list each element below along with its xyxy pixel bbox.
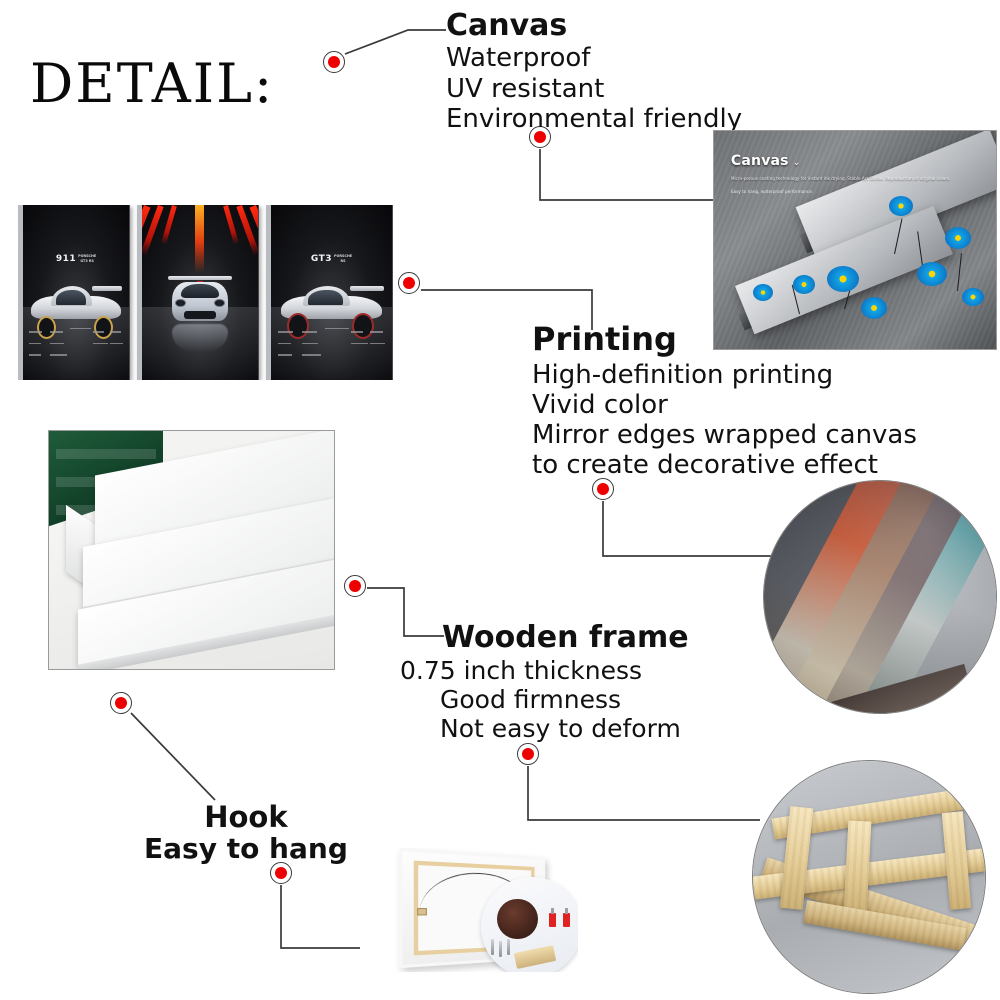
callout-wooden-frame-line-1: 0.75 inch thickness — [400, 656, 689, 685]
red-hanger — [563, 913, 570, 927]
overlay-title: Canvas — [731, 153, 789, 169]
car-headlight-left — [175, 299, 186, 307]
callout-wooden-frame-heading: Wooden frame — [442, 622, 689, 654]
overlay-text-block-1: Micro-porous coating technology for inst… — [731, 176, 951, 182]
callout-canvas: Canvas Waterproof UV resistant Environme… — [446, 10, 742, 134]
callout-printing-line-4: to create decorative effect — [532, 450, 917, 480]
leader-hook-image — [281, 885, 360, 948]
leader-canvas — [345, 30, 446, 54]
screw — [507, 939, 510, 955]
poster-right-title: GT3PORSCHERS — [271, 254, 392, 264]
canvas-image-overlay-label: Canvas⌄ Micro-porous coating technology … — [731, 153, 951, 195]
callout-printing-line-1: High-definition printing — [532, 360, 917, 390]
callout-hook: Hook Easy to hang — [144, 802, 348, 866]
marker-canvas[interactable] — [323, 51, 345, 73]
leader-print-image — [603, 501, 782, 556]
marker-hook[interactable] — [110, 692, 132, 714]
blue-flower — [962, 288, 984, 306]
car-rear-wing — [350, 286, 385, 290]
callout-hook-line-1: Easy to hang — [144, 833, 348, 865]
wooden-stretcher-bars-image — [752, 760, 986, 994]
wood-block — [514, 945, 557, 969]
stretcher-bar-center — [843, 821, 871, 915]
printed-canvas-edges-image — [763, 480, 997, 714]
poster-right-model: GT3 — [311, 254, 332, 264]
blue-flower — [945, 227, 971, 249]
hardware-kit-inset — [481, 877, 578, 972]
blue-flower — [827, 266, 859, 292]
callout-canvas-line-2: UV resistant — [446, 74, 742, 104]
car-grille — [184, 311, 215, 319]
car-rear-wing — [168, 276, 233, 281]
car-rear-wing — [92, 286, 122, 290]
callout-hook-heading: Hook — [144, 802, 348, 833]
red-light-streaks — [142, 205, 258, 286]
blue-flower — [793, 275, 815, 294]
blue-flower — [753, 284, 773, 301]
chevron-down-icon: ⌄ — [793, 158, 801, 168]
callout-wooden-frame-line-2: Good firmness — [440, 685, 689, 714]
leader-hook — [131, 713, 215, 800]
poster-left-sub2: GT3 RS — [80, 259, 94, 263]
car-silhouette-side — [281, 286, 383, 332]
car-window — [308, 290, 343, 305]
poster-panel-center — [137, 205, 259, 380]
car-silhouette-side — [31, 286, 120, 332]
callout-printing-line-3: Mirror edges wrapped canvas — [532, 420, 917, 450]
leader-canvas-image — [540, 149, 713, 200]
callout-canvas-line-3: Environmental friendly — [446, 104, 742, 134]
red-hanger — [549, 913, 556, 927]
marker-printing[interactable] — [398, 272, 420, 294]
poster-left-title: 911PORSCHEGT3 RS — [23, 254, 129, 264]
overlay-text-block-2: Easy to hang, waterproof performance. — [731, 189, 951, 195]
hook-disc — [497, 899, 537, 939]
callout-wooden-frame: Wooden frame 0.75 inch thickness Good fi… — [400, 622, 689, 743]
poster-triptych-image: 911PORSCHEGT3 RS — [18, 205, 393, 380]
canvas-material-image: Canvas⌄ Micro-porous coating technology … — [713, 130, 997, 350]
blank-canvas-stack-image — [48, 430, 335, 670]
poster-panel-left: 911PORSCHEGT3 RS — [18, 205, 130, 380]
poster-spec-row — [29, 328, 122, 367]
shading-overlay — [764, 481, 996, 713]
car-windshield — [181, 284, 219, 299]
poster-right-sub2: RS — [341, 259, 346, 263]
poster-spec-row — [278, 328, 385, 367]
callout-canvas-line-1: Waterproof — [446, 43, 742, 73]
screw — [491, 939, 494, 955]
marker-wood-image[interactable] — [517, 743, 539, 765]
marker-wooden-frame[interactable] — [344, 575, 366, 597]
wire-clip-left — [417, 908, 427, 916]
overlay-title-row: Canvas⌄ — [731, 153, 951, 169]
callout-wooden-frame-line-3: Not easy to deform — [440, 714, 689, 743]
car-window — [56, 290, 86, 305]
car-silhouette-front — [172, 282, 228, 321]
blue-flower — [917, 262, 947, 286]
leader-wood-image — [528, 766, 760, 820]
infographic-canvas: DETAIL: Canvas Waterproof — [0, 0, 1000, 1000]
poster-panel-right: GT3PORSCHERS — [266, 205, 393, 380]
screw — [499, 941, 502, 957]
callout-canvas-heading: Canvas — [446, 10, 742, 42]
marker-print-image[interactable] — [592, 478, 614, 500]
blue-flower — [861, 297, 887, 319]
hook-hardware-image — [392, 848, 578, 972]
poster-left-model: 911 — [56, 254, 76, 264]
car-floor-reflection — [172, 324, 228, 352]
callout-printing-line-2: Vivid color — [532, 390, 917, 420]
